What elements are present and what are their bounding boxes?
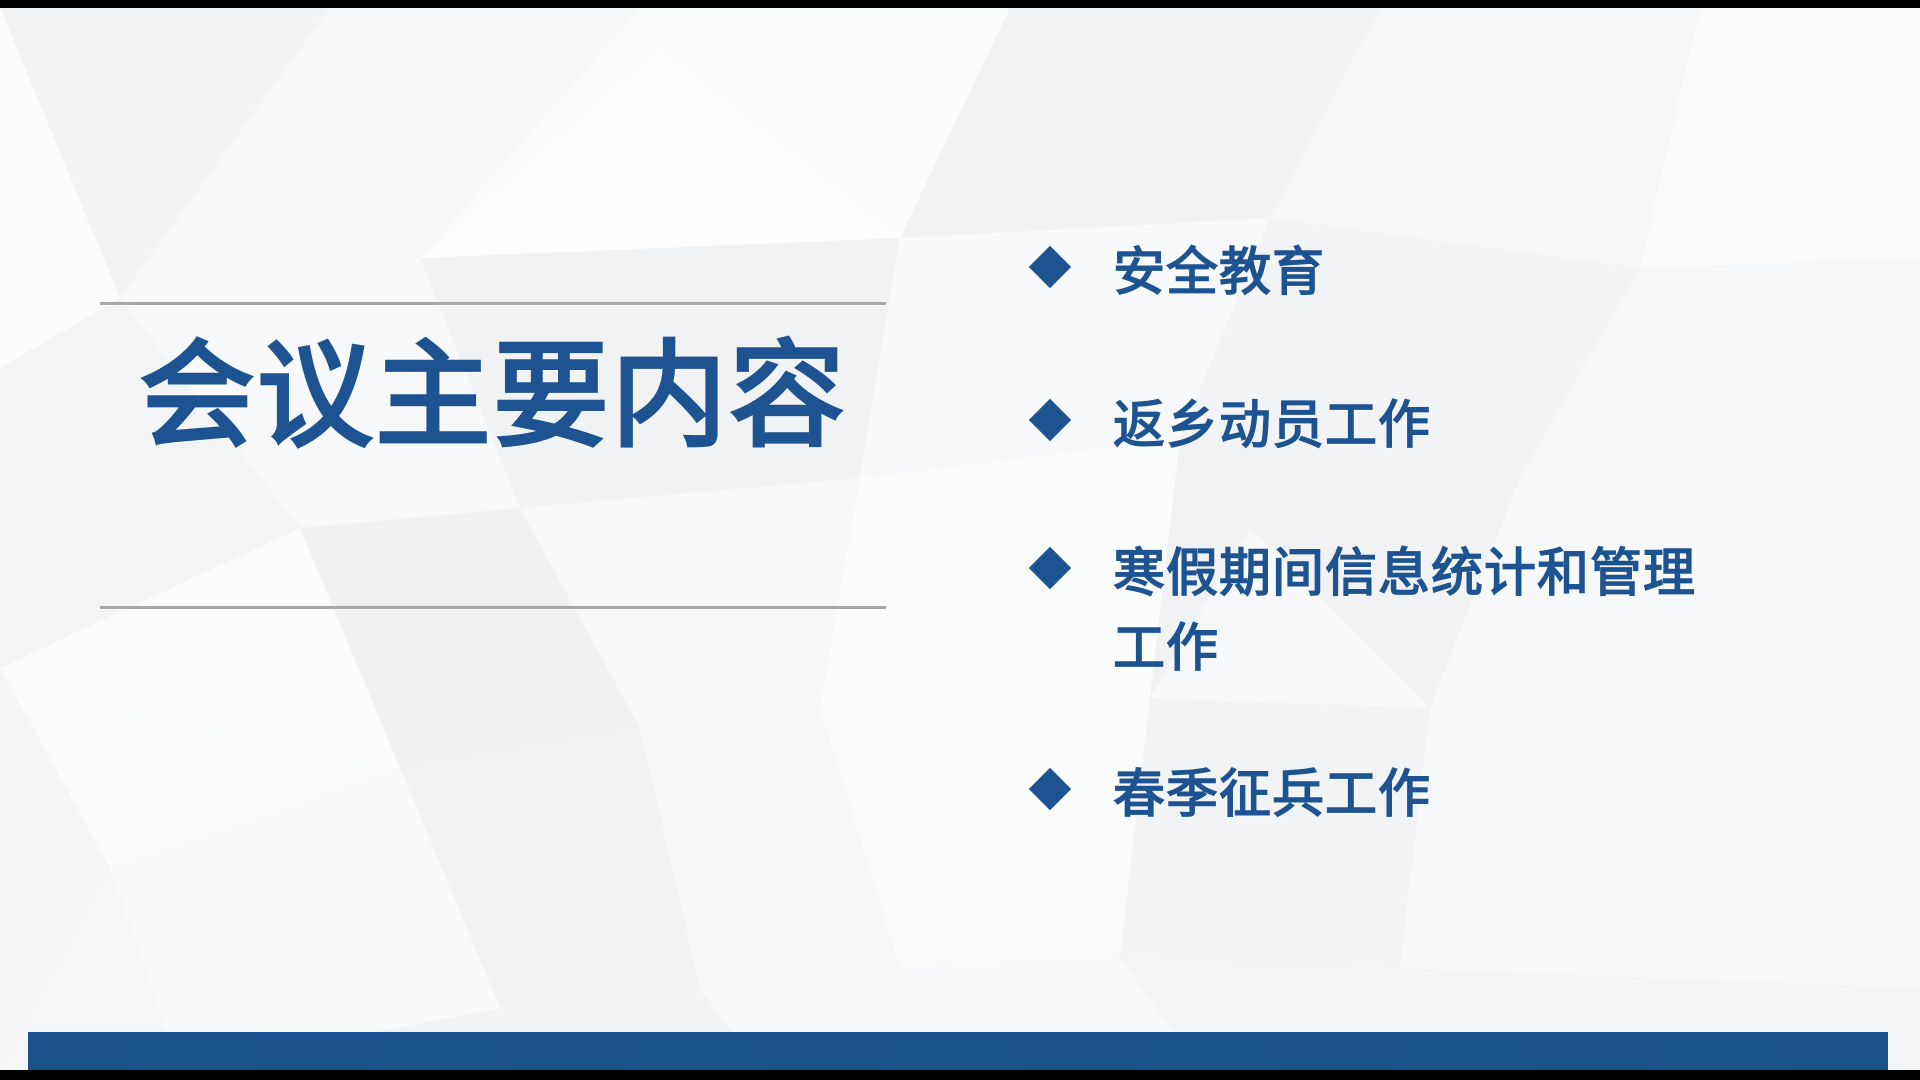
list-item-label: 安全教育 bbox=[1113, 236, 1723, 311]
list-item-label: 春季征兵工作 bbox=[1113, 758, 1723, 833]
title-rule-top bbox=[100, 302, 886, 305]
list-item: 寒假期间信息统计和管理工作 bbox=[1035, 537, 1835, 688]
diamond-bullet-icon bbox=[1029, 399, 1071, 441]
page-title: 会议主要内容 bbox=[100, 328, 886, 465]
slide-root: 会议主要内容 安全教育 返乡动员工作 寒假期间信息统计和管理工作 春季征兵工作 bbox=[0, 0, 1920, 1080]
list-item: 春季征兵工作 bbox=[1035, 758, 1835, 833]
list-item-label: 返乡动员工作 bbox=[1113, 389, 1723, 464]
letterbox-bottom-band bbox=[0, 1070, 1920, 1080]
title-block: 会议主要内容 bbox=[100, 288, 890, 618]
list-item: 返乡动员工作 bbox=[1035, 389, 1835, 464]
bullet-list: 安全教育 返乡动员工作 寒假期间信息统计和管理工作 春季征兵工作 bbox=[1035, 236, 1835, 833]
diamond-bullet-icon bbox=[1029, 767, 1071, 809]
diamond-bullet-icon bbox=[1029, 246, 1071, 288]
slide-canvas: 会议主要内容 安全教育 返乡动员工作 寒假期间信息统计和管理工作 春季征兵工作 bbox=[0, 8, 1920, 1070]
bottom-accent-band bbox=[28, 1032, 1888, 1070]
list-item: 安全教育 bbox=[1035, 236, 1835, 311]
title-rule-bottom bbox=[100, 606, 886, 609]
letterbox-top-band bbox=[0, 0, 1920, 8]
list-item-label: 寒假期间信息统计和管理工作 bbox=[1113, 537, 1723, 688]
diamond-bullet-icon bbox=[1029, 547, 1071, 589]
